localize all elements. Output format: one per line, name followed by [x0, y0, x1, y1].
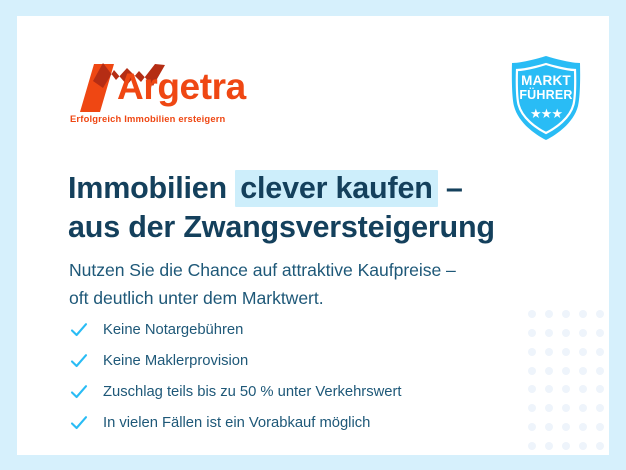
subtitle-line-1: Nutzen Sie die Chance auf attraktive Kau…	[69, 256, 589, 284]
check-icon	[69, 382, 89, 402]
list-item: In vielen Fällen ist ein Vorabkauf mögli…	[69, 407, 539, 438]
decoration-dot	[545, 423, 553, 431]
decoration-dot	[545, 367, 553, 375]
list-item-label: Keine Maklerprovision	[103, 351, 248, 371]
list-item: Keine Notargebühren	[69, 314, 539, 345]
decoration-dot	[562, 348, 570, 356]
decoration-dot	[562, 385, 570, 393]
list-item-label: In vielen Fällen ist ein Vorabkauf mögli…	[103, 413, 370, 433]
headline-line-1: Immobilien clever kaufen –	[68, 169, 568, 208]
decoration-dot	[562, 404, 570, 412]
argetra-logo[interactable]: Argetra Erfolgreich Immobilien ersteiger…	[69, 60, 269, 130]
headline-line-2: aus der Zwangsversteigerung	[68, 208, 568, 247]
headline-text-before: Immobilien	[68, 171, 235, 205]
promo-card: Argetra Erfolgreich Immobilien ersteiger…	[17, 16, 609, 455]
decoration-dot	[596, 442, 604, 450]
decoration-dot	[545, 404, 553, 412]
decoration-dot	[545, 442, 553, 450]
decoration-dot	[579, 442, 587, 450]
benefits-checklist: Keine Notargebühren Keine Maklerprovisio…	[69, 314, 539, 438]
list-item: Zuschlag teils bis zu 50 % unter Verkehr…	[69, 376, 539, 407]
headline-text-after: –	[438, 171, 463, 205]
decoration-dot	[562, 442, 570, 450]
market-leader-badge: MARKT FÜHRER ★★★	[506, 54, 586, 142]
argetra-logo-wordmark: Argetra	[117, 65, 246, 109]
decoration-dot	[579, 348, 587, 356]
check-icon	[69, 320, 89, 340]
promo-banner: Argetra Erfolgreich Immobilien ersteiger…	[0, 0, 626, 470]
decoration-dot	[562, 423, 570, 431]
decoration-dot	[562, 329, 570, 337]
decoration-dot	[545, 385, 553, 393]
decoration-dot	[596, 423, 604, 431]
decoration-dot	[579, 385, 587, 393]
decoration-dot	[596, 310, 604, 318]
decoration-dot	[545, 348, 553, 356]
decoration-dot	[596, 348, 604, 356]
subtitle: Nutzen Sie die Chance auf attraktive Kau…	[69, 256, 589, 312]
decoration-dot	[596, 404, 604, 412]
decoration-dot	[596, 367, 604, 375]
decoration-dot	[562, 367, 570, 375]
decoration-dot	[528, 442, 536, 450]
page-title: Immobilien clever kaufen – aus der Zwang…	[68, 169, 568, 247]
decoration-dot	[596, 329, 604, 337]
headline-highlight: clever kaufen	[235, 170, 437, 207]
subtitle-line-2: oft deutlich unter dem Marktwert.	[69, 284, 589, 312]
decoration-dot	[579, 404, 587, 412]
decoration-dot	[579, 329, 587, 337]
list-item-label: Zuschlag teils bis zu 50 % unter Verkehr…	[103, 382, 401, 402]
check-icon	[69, 413, 89, 433]
decoration-dot	[545, 329, 553, 337]
argetra-logo-tagline: Erfolgreich Immobilien ersteigern	[70, 113, 225, 124]
decoration-dot	[579, 423, 587, 431]
decoration-dot	[596, 385, 604, 393]
list-item-label: Keine Notargebühren	[103, 320, 243, 340]
decoration-dot	[579, 367, 587, 375]
check-icon	[69, 351, 89, 371]
list-item: Keine Maklerprovision	[69, 345, 539, 376]
